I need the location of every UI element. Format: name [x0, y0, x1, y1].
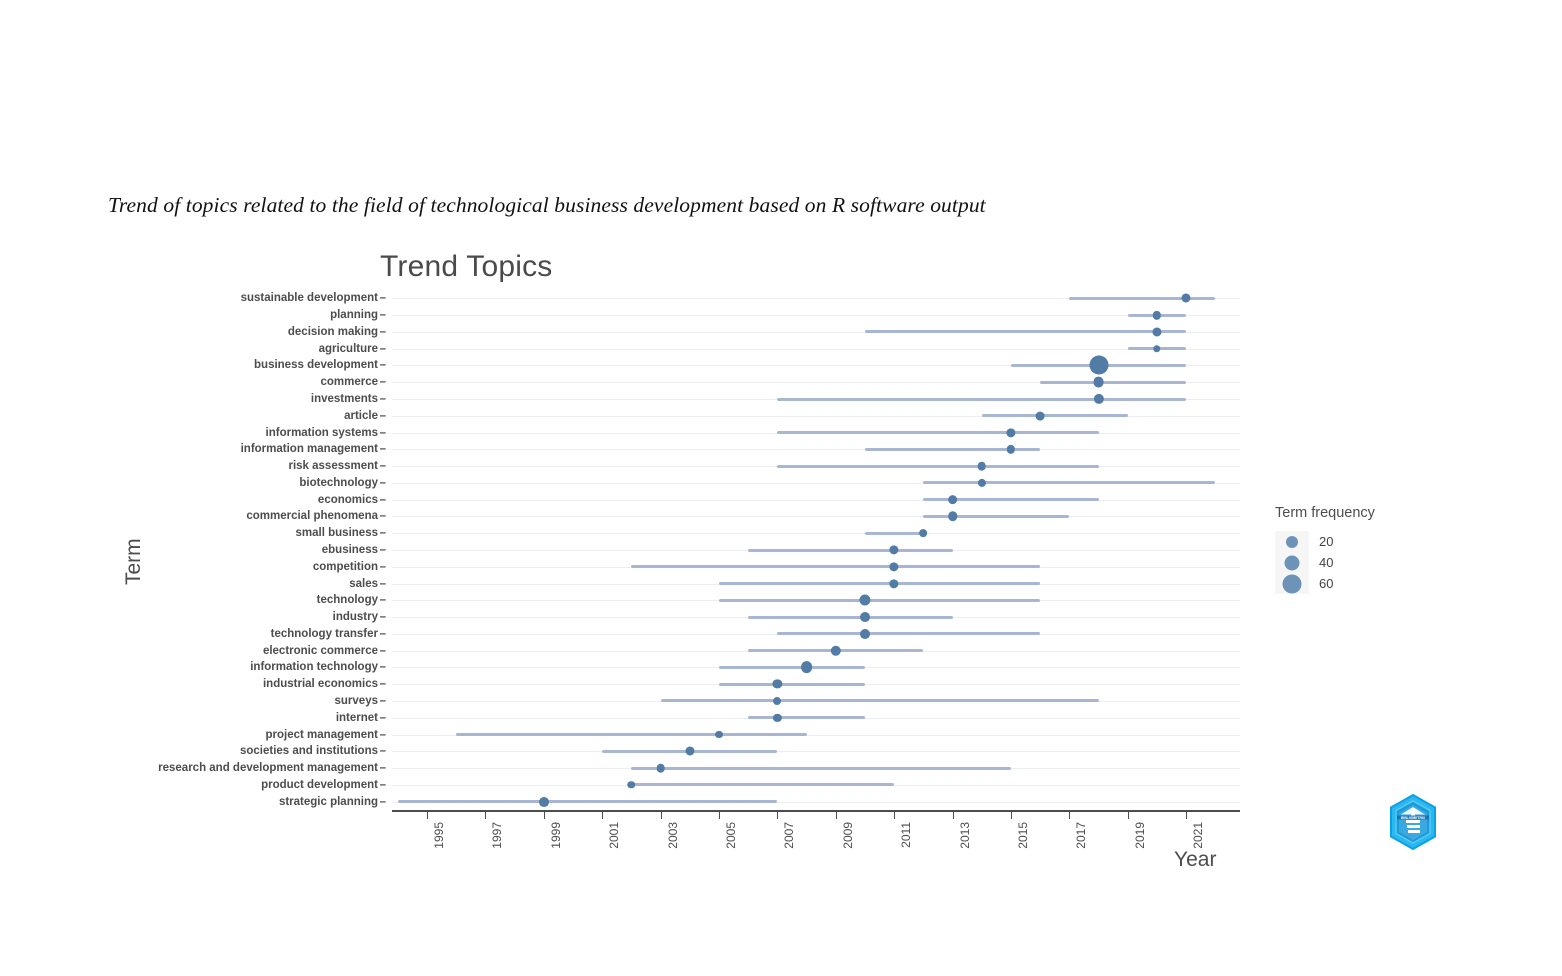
- x-tick-label: 2009: [841, 822, 855, 849]
- term-median-dot[interactable]: [1036, 411, 1045, 420]
- term-median-dot[interactable]: [1094, 394, 1104, 404]
- y-tick-mark: –: [380, 762, 386, 774]
- y-tick-label: information systems: [266, 427, 378, 439]
- y-tick-mark: –: [380, 343, 386, 355]
- y-tick-label: strategic planning: [279, 796, 378, 808]
- y-tick-label: technology: [317, 594, 378, 606]
- term-median-dot[interactable]: [773, 697, 781, 705]
- x-tick-mark: [953, 812, 954, 819]
- y-tick-mark: –: [380, 544, 386, 556]
- y-tick-label: product development: [261, 779, 378, 791]
- x-tick-label: 1995: [432, 822, 446, 849]
- legend-swatch: [1275, 531, 1309, 552]
- x-tick-mark: [1186, 812, 1187, 819]
- term-range-line: [398, 800, 778, 803]
- x-tick-label: 1999: [549, 822, 563, 849]
- term-median-dot[interactable]: [1153, 311, 1161, 319]
- y-tick-mark: –: [380, 494, 386, 506]
- x-tick-mark: [544, 812, 545, 819]
- x-tick-label: 2017: [1074, 822, 1088, 849]
- term-median-dot[interactable]: [1089, 356, 1108, 375]
- figure-caption: Trend of topics related to the field of …: [108, 193, 1208, 218]
- y-tick-mark: –: [380, 594, 386, 606]
- y-tick-label: planning: [330, 309, 378, 321]
- plot-area: BIBLIOMETRIX: [392, 290, 1240, 810]
- y-tick-label: agriculture: [319, 343, 378, 355]
- term-median-dot[interactable]: [859, 595, 870, 606]
- y-tick-mark: –: [380, 393, 386, 405]
- y-tick-label: biotechnology: [299, 477, 378, 489]
- y-axis-labels: Term sustainable development–planning–de…: [150, 290, 386, 810]
- y-tick-label: decision making: [288, 326, 378, 338]
- term-range-line: [661, 699, 1099, 702]
- term-median-dot[interactable]: [920, 529, 928, 537]
- y-tick-label: societies and institutions: [240, 745, 378, 757]
- y-tick-label: industry: [333, 611, 378, 623]
- y-tick-label: commerce: [320, 376, 378, 388]
- x-axis-title: Year: [1174, 848, 1216, 872]
- x-tick-mark: [427, 812, 428, 819]
- legend-entry: 20: [1275, 531, 1445, 552]
- x-tick-label: 2005: [724, 822, 738, 849]
- trend-topics-figure: Trend Topics Term sustainable developmen…: [150, 240, 1450, 880]
- x-tick-mark: [777, 812, 778, 819]
- y-tick-label: business development: [254, 359, 378, 371]
- term-median-dot[interactable]: [1182, 294, 1191, 303]
- x-tick-mark: [661, 812, 662, 819]
- y-tick-label: risk assessment: [288, 460, 378, 472]
- legend-entries: 204060: [1275, 531, 1445, 594]
- y-tick-mark: –: [380, 376, 386, 388]
- term-range-line: [1069, 297, 1215, 300]
- grid-line: [392, 533, 1240, 534]
- y-tick-mark: –: [380, 292, 386, 304]
- y-tick-mark: –: [380, 527, 386, 539]
- y-tick-mark: –: [380, 460, 386, 472]
- term-range-line: [865, 532, 923, 535]
- x-tick-mark: [602, 812, 603, 819]
- term-range-line: [748, 549, 952, 552]
- term-range-line: [923, 515, 1069, 518]
- y-tick-label: economics: [318, 494, 378, 506]
- grid-line: [392, 751, 1240, 752]
- y-tick-mark: –: [380, 561, 386, 573]
- term-range-line: [719, 666, 865, 669]
- x-tick-mark: [1011, 812, 1012, 819]
- y-tick-mark: –: [380, 427, 386, 439]
- y-tick-label: investments: [311, 393, 378, 405]
- term-median-dot[interactable]: [801, 662, 813, 674]
- term-median-dot[interactable]: [1153, 345, 1160, 352]
- term-range-line: [719, 683, 865, 686]
- y-tick-mark: –: [380, 678, 386, 690]
- grid-line: [392, 315, 1240, 316]
- term-range-line: [865, 330, 1186, 333]
- term-median-dot[interactable]: [860, 629, 870, 639]
- x-tick-label: 2021: [1191, 822, 1205, 849]
- y-tick-mark: –: [380, 410, 386, 422]
- term-range-line: [719, 599, 1040, 602]
- term-median-dot[interactable]: [890, 579, 899, 588]
- y-tick-label: industrial economics: [263, 678, 378, 690]
- legend-swatch: [1275, 552, 1309, 573]
- y-tick-mark: –: [380, 578, 386, 590]
- term-range-line: [777, 398, 1186, 401]
- term-range-line: [748, 716, 865, 719]
- term-median-dot[interactable]: [1007, 445, 1015, 453]
- x-tick-label: 2003: [666, 822, 680, 849]
- y-tick-mark: –: [380, 661, 386, 673]
- y-tick-mark: –: [380, 309, 386, 321]
- x-tick-label: 2007: [782, 822, 796, 849]
- y-tick-label: internet: [336, 712, 378, 724]
- y-tick-label: small business: [296, 527, 378, 539]
- y-tick-mark: –: [380, 712, 386, 724]
- y-tick-label: electronic commerce: [263, 645, 378, 657]
- term-range-line: [777, 632, 1040, 635]
- legend-dot-icon: [1283, 574, 1302, 593]
- term-median-dot[interactable]: [948, 495, 958, 505]
- y-tick-label: competition: [313, 561, 378, 573]
- x-tick-label: 2011: [899, 822, 913, 848]
- legend-label: 40: [1319, 555, 1333, 570]
- y-tick-mark: –: [380, 477, 386, 489]
- x-tick-label: 2019: [1133, 822, 1147, 849]
- y-tick-mark: –: [380, 443, 386, 455]
- term-median-dot[interactable]: [656, 764, 665, 773]
- term-range-line: [923, 481, 1215, 484]
- y-tick-label: technology transfer: [271, 628, 378, 640]
- legend-entry: 60: [1275, 573, 1445, 594]
- term-median-dot[interactable]: [1152, 327, 1161, 336]
- legend-label: 60: [1319, 576, 1333, 591]
- x-axis-line: [392, 810, 1240, 812]
- y-tick-label: surveys: [335, 695, 378, 707]
- grid-line: [392, 516, 1240, 517]
- term-range-line: [748, 616, 952, 619]
- y-tick-label: project management: [266, 729, 378, 741]
- y-tick-mark: –: [380, 611, 386, 623]
- x-tick-mark: [836, 812, 837, 819]
- y-tick-label: sales: [349, 578, 378, 590]
- y-tick-mark: –: [380, 779, 386, 791]
- y-tick-label: information technology: [250, 661, 378, 673]
- term-median-dot[interactable]: [948, 512, 958, 522]
- y-tick-label: article: [344, 410, 378, 422]
- legend: Term frequency 204060: [1275, 505, 1445, 594]
- bibliometrix-logo-icon: BIBLIOMETRIX: [1387, 793, 1439, 851]
- term-range-line: [777, 465, 1098, 468]
- term-range-line: [456, 733, 806, 736]
- term-median-dot[interactable]: [1093, 377, 1104, 388]
- x-tick-mark: [485, 812, 486, 819]
- term-median-dot[interactable]: [773, 714, 781, 722]
- grid-line: [392, 449, 1240, 450]
- chart-title: Trend Topics: [380, 250, 552, 284]
- figure-page: Trend of topics related to the field of …: [0, 0, 1562, 976]
- term-median-dot[interactable]: [539, 797, 549, 807]
- y-tick-label: research and development management: [158, 762, 378, 774]
- y-tick-mark: –: [380, 359, 386, 371]
- grid-line: [392, 349, 1240, 350]
- y-tick-mark: –: [380, 745, 386, 757]
- x-tick-label: 1997: [490, 822, 504, 849]
- x-tick-label: 2013: [958, 822, 972, 849]
- legend-swatch: [1275, 573, 1309, 594]
- term-median-dot[interactable]: [977, 462, 986, 471]
- term-range-line: [719, 582, 1040, 585]
- x-tick-mark: [1128, 812, 1129, 819]
- term-median-dot[interactable]: [685, 747, 694, 756]
- legend-dot-icon: [1286, 536, 1298, 548]
- legend-label: 20: [1319, 534, 1333, 549]
- term-range-line: [631, 783, 894, 786]
- x-tick-mark: [894, 812, 895, 819]
- term-median-dot[interactable]: [628, 781, 635, 788]
- term-range-line: [1040, 381, 1186, 384]
- x-tick-mark: [719, 812, 720, 819]
- y-tick-mark: –: [380, 729, 386, 741]
- y-tick-mark: –: [380, 628, 386, 640]
- y-axis-title: Term: [122, 538, 146, 585]
- y-tick-label: ebusiness: [322, 544, 378, 556]
- term-median-dot[interactable]: [978, 479, 986, 487]
- term-range-line: [982, 414, 1128, 417]
- y-tick-mark: –: [380, 510, 386, 522]
- term-range-line: [631, 767, 1011, 770]
- legend-title: Term frequency: [1275, 505, 1445, 521]
- term-median-dot[interactable]: [860, 612, 870, 622]
- y-tick-mark: –: [380, 695, 386, 707]
- legend-entry: 40: [1275, 552, 1445, 573]
- y-tick-label: commercial phenomena: [246, 510, 378, 522]
- term-median-dot[interactable]: [831, 645, 841, 655]
- term-range-line: [631, 565, 1040, 568]
- term-median-dot[interactable]: [715, 731, 723, 739]
- x-tick-mark: [1069, 812, 1070, 819]
- y-tick-label: sustainable development: [241, 292, 378, 304]
- grid-line: [392, 500, 1240, 501]
- y-tick-mark: –: [380, 326, 386, 338]
- svg-text:BIBLIOMETRIX: BIBLIOMETRIX: [1401, 816, 1426, 820]
- legend-dot-icon: [1285, 555, 1300, 570]
- term-median-dot[interactable]: [890, 562, 899, 571]
- term-range-line: [777, 431, 1098, 434]
- y-tick-mark: –: [380, 796, 386, 808]
- x-tick-label: 2001: [607, 822, 621, 849]
- y-tick-mark: –: [380, 645, 386, 657]
- x-tick-label: 2015: [1016, 822, 1030, 849]
- term-median-dot[interactable]: [773, 680, 782, 689]
- y-tick-label: information management: [241, 443, 378, 455]
- term-median-dot[interactable]: [890, 545, 899, 554]
- term-median-dot[interactable]: [1006, 428, 1015, 437]
